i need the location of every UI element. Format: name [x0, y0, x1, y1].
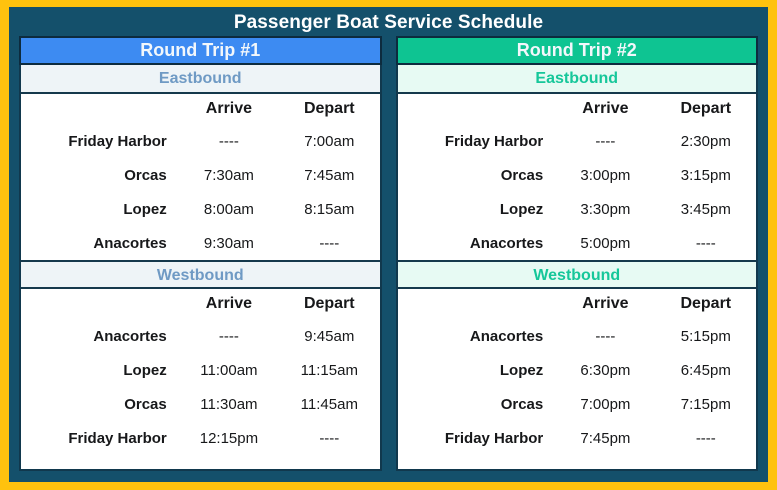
depart-time: ----	[656, 226, 756, 260]
stop-name: Lopez	[21, 353, 179, 387]
table-row: Orcas 3:00pm 3:15pm	[398, 158, 757, 192]
column-header-arrive: Arrive	[555, 94, 655, 124]
arrive-time: 12:15pm	[179, 421, 279, 455]
column-header-arrive: Arrive	[179, 94, 279, 124]
arrive-time: ----	[555, 319, 655, 353]
stop-name: Friday Harbor	[398, 124, 556, 158]
table-row: Lopez 8:00am 8:15am	[21, 192, 380, 226]
depart-time: ----	[279, 226, 379, 260]
depart-time: 8:15am	[279, 192, 379, 226]
arrive-time: 5:00pm	[555, 226, 655, 260]
round-trip-2: Round Trip #2 Eastbound Arrive Depart	[396, 36, 759, 471]
depart-time: 5:15pm	[656, 319, 756, 353]
column-header-stop	[21, 94, 179, 124]
column-header-stop	[398, 289, 556, 319]
arrive-time: 7:45pm	[555, 421, 655, 455]
round-trip-2-eastbound-table: Arrive Depart Friday Harbor ---- 2:30pm	[398, 94, 757, 260]
round-trip-1-eastbound-heading: Eastbound	[21, 65, 380, 94]
stop-name: Friday Harbor	[21, 421, 179, 455]
round-trip-2-heading: Round Trip #2	[396, 36, 759, 65]
column-header-depart: Depart	[279, 289, 379, 319]
table-row: Lopez 3:30pm 3:45pm	[398, 192, 757, 226]
arrive-time: 6:30pm	[555, 353, 655, 387]
depart-time: 7:45am	[279, 158, 379, 192]
round-trip-1-body: Eastbound Arrive Depart	[19, 65, 382, 471]
depart-time: 3:45pm	[656, 192, 756, 226]
table-row: Lopez 11:00am 11:15am	[21, 353, 380, 387]
arrive-time: 3:00pm	[555, 158, 655, 192]
arrive-time: 7:30am	[179, 158, 279, 192]
column-header-row: Arrive Depart	[398, 289, 757, 319]
depart-time: 9:45am	[279, 319, 379, 353]
round-trip-2-body: Eastbound Arrive Depart	[396, 65, 759, 471]
round-trip-2-eastbound-heading: Eastbound	[398, 65, 757, 94]
depart-time: 11:45am	[279, 387, 379, 421]
round-trip-2-westbound-table: Arrive Depart Anacortes ---- 5:15pm	[398, 289, 757, 455]
table-row: Friday Harbor ---- 7:00am	[21, 124, 380, 158]
column-header-arrive: Arrive	[179, 289, 279, 319]
round-trip-1-westbound-table: Arrive Depart Anacortes ---- 9:45am	[21, 289, 380, 455]
depart-time: 11:15am	[279, 353, 379, 387]
column-header-arrive: Arrive	[555, 289, 655, 319]
stop-name: Orcas	[21, 158, 179, 192]
stop-name: Orcas	[398, 158, 556, 192]
table-row: Anacortes ---- 5:15pm	[398, 319, 757, 353]
column-header-row: Arrive Depart	[21, 94, 380, 124]
stop-name: Orcas	[398, 387, 556, 421]
stop-name: Friday Harbor	[21, 124, 179, 158]
arrive-time: 11:00am	[179, 353, 279, 387]
round-trip-2-eastbound-section: Arrive Depart Friday Harbor ---- 2:30pm	[398, 94, 757, 260]
column-header-row: Arrive Depart	[21, 289, 380, 319]
round-trip-1-eastbound-table: Arrive Depart Friday Harbor ---- 7:00am	[21, 94, 380, 260]
arrive-time: 11:30am	[179, 387, 279, 421]
round-trip-1: Round Trip #1 Eastbound Arrive Depart	[19, 36, 382, 471]
arrive-time: 8:00am	[179, 192, 279, 226]
round-trip-1-heading: Round Trip #1	[19, 36, 382, 65]
stop-name: Anacortes	[21, 319, 179, 353]
column-header-depart: Depart	[656, 94, 756, 124]
arrive-time: 9:30am	[179, 226, 279, 260]
table-row: Anacortes 5:00pm ----	[398, 226, 757, 260]
round-trip-1-westbound-heading: Westbound	[21, 260, 380, 289]
table-row: Friday Harbor 7:45pm ----	[398, 421, 757, 455]
table-row: Orcas 11:30am 11:45am	[21, 387, 380, 421]
table-row: Anacortes ---- 9:45am	[21, 319, 380, 353]
arrive-time: 3:30pm	[555, 192, 655, 226]
stop-name: Lopez	[21, 192, 179, 226]
round-trip-2-westbound-section: Arrive Depart Anacortes ---- 5:15pm	[398, 289, 757, 455]
depart-time: 7:00am	[279, 124, 379, 158]
page-title: Passenger Boat Service Schedule	[19, 10, 758, 36]
table-row: Lopez 6:30pm 6:45pm	[398, 353, 757, 387]
arrive-time: 7:00pm	[555, 387, 655, 421]
column-header-stop	[21, 289, 179, 319]
column-header-stop	[398, 94, 556, 124]
arrive-time: ----	[179, 319, 279, 353]
round-trip-1-westbound-section: Arrive Depart Anacortes ---- 9:45am	[21, 289, 380, 455]
depart-time: ----	[656, 421, 756, 455]
stop-name: Anacortes	[398, 319, 556, 353]
table-row: Orcas 7:00pm 7:15pm	[398, 387, 757, 421]
stop-name: Orcas	[21, 387, 179, 421]
arrive-time: ----	[179, 124, 279, 158]
column-header-depart: Depart	[656, 289, 756, 319]
round-trip-1-eastbound-section: Arrive Depart Friday Harbor ---- 7:00am	[21, 94, 380, 260]
stop-name: Anacortes	[398, 226, 556, 260]
poster-frame: Passenger Boat Service Schedule Round Tr…	[0, 0, 777, 490]
stop-name: Friday Harbor	[398, 421, 556, 455]
depart-time: 3:15pm	[656, 158, 756, 192]
stop-name: Anacortes	[21, 226, 179, 260]
depart-time: 7:15pm	[656, 387, 756, 421]
table-row: Friday Harbor 12:15pm ----	[21, 421, 380, 455]
schedule-panel: Passenger Boat Service Schedule Round Tr…	[9, 7, 768, 482]
table-row: Anacortes 9:30am ----	[21, 226, 380, 260]
column-header-depart: Depart	[279, 94, 379, 124]
depart-time: ----	[279, 421, 379, 455]
round-trip-2-westbound-heading: Westbound	[398, 260, 757, 289]
stop-name: Lopez	[398, 192, 556, 226]
arrive-time: ----	[555, 124, 655, 158]
table-row: Orcas 7:30am 7:45am	[21, 158, 380, 192]
column-header-row: Arrive Depart	[398, 94, 757, 124]
round-trip-columns: Round Trip #1 Eastbound Arrive Depart	[19, 36, 758, 471]
depart-time: 2:30pm	[656, 124, 756, 158]
depart-time: 6:45pm	[656, 353, 756, 387]
table-row: Friday Harbor ---- 2:30pm	[398, 124, 757, 158]
stop-name: Lopez	[398, 353, 556, 387]
